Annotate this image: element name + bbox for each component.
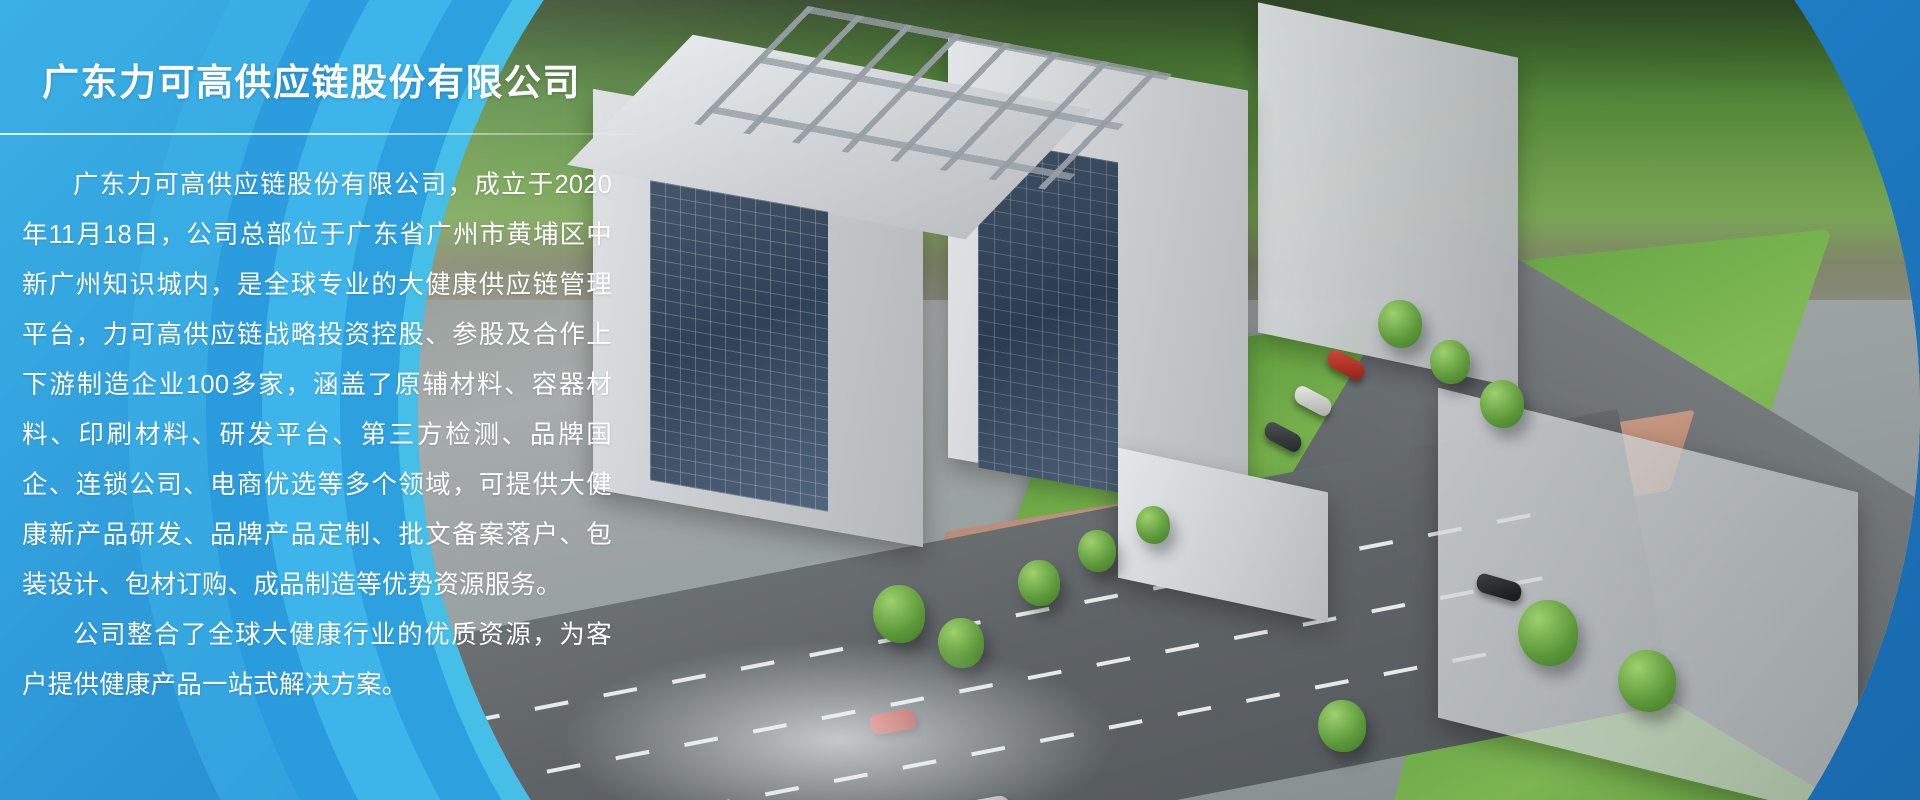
tree	[1618, 650, 1676, 712]
tree	[1480, 380, 1524, 428]
text-column: 广东力可高供应链股份有限公司 广东力可高供应链股份有限公司，成立于2020年11…	[0, 0, 640, 800]
tree	[1378, 300, 1422, 348]
company-description: 广东力可高供应链股份有限公司，成立于2020年11月18日，公司总部位于广东省广…	[22, 160, 612, 710]
campus-photo	[418, 0, 1920, 800]
tree	[1518, 600, 1578, 666]
title-divider	[0, 133, 640, 135]
tree	[1318, 700, 1366, 752]
atmospheric-haze	[558, 640, 1118, 800]
tree	[1136, 506, 1170, 544]
campus-photo-circle-mask	[418, 0, 1920, 800]
paragraph-1: 广东力可高供应链股份有限公司，成立于2020年11月18日，公司总部位于广东省广…	[22, 160, 612, 610]
company-profile-banner: 广东力可高供应链股份有限公司 广东力可高供应链股份有限公司，成立于2020年11…	[0, 0, 1920, 800]
page-title: 广东力可高供应链股份有限公司	[42, 52, 581, 106]
tree	[1078, 530, 1116, 572]
tree	[1430, 340, 1470, 384]
office-building-main-glazing	[650, 180, 828, 511]
tree	[1018, 560, 1060, 606]
campus-photo-base	[418, 0, 1920, 800]
tree	[873, 585, 925, 643]
paragraph-2: 公司整合了全球大健康行业的优质资源，为客户提供健康产品一站式解决方案。	[22, 610, 612, 710]
